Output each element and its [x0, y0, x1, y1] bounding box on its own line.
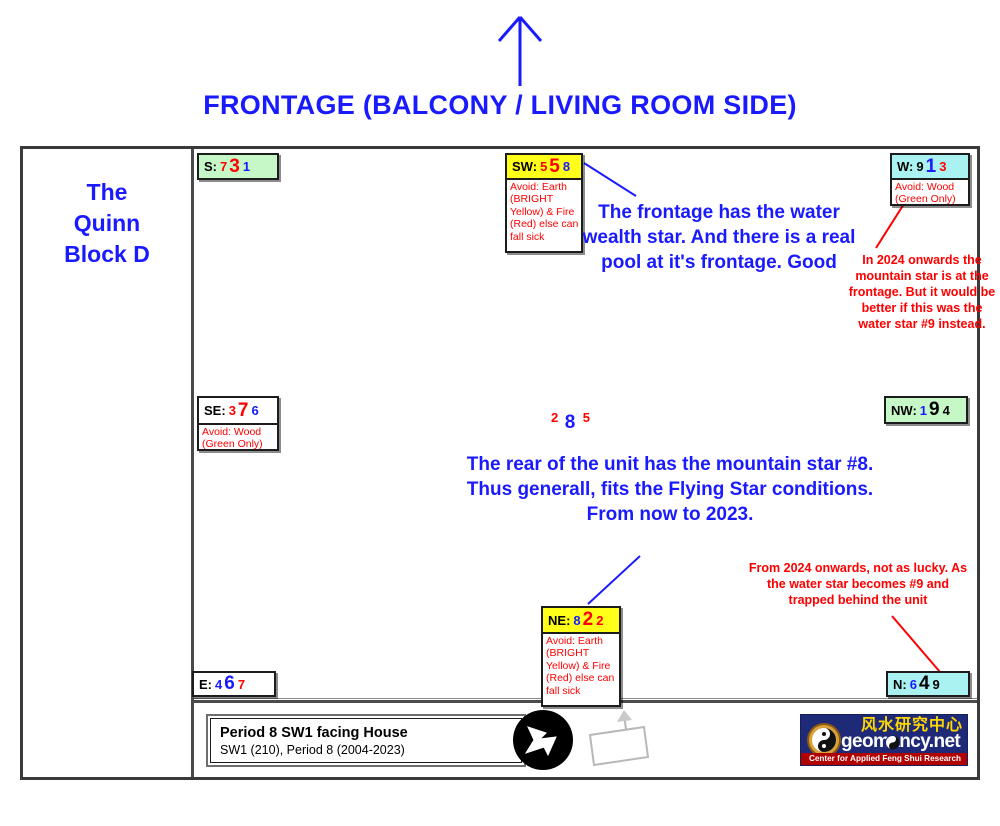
star-box-sw-mountain-star: 5: [549, 156, 560, 178]
star-box-se-period-star: 6: [252, 403, 259, 418]
star-box-w-water-star: 9: [916, 159, 923, 174]
compass-facing-icon: [512, 709, 574, 771]
yin-yang-small-icon: [885, 735, 900, 750]
star-box-ne-advice: Avoid: Earth (BRIGHT Yellow) & Fire (Red…: [541, 634, 621, 707]
star-box-n-mountain-star: 4: [919, 673, 930, 695]
star-box-sw-period-star: 8: [563, 159, 570, 174]
annotation-rear: The rear of the unit has the mountain st…: [450, 452, 890, 527]
star-box-se-mountain-star: 7: [238, 400, 249, 422]
star-box-sw-advice: Avoid: Earth (BRIGHT Yellow) & Fire (Red…: [505, 180, 583, 253]
center-water-star: 2: [551, 410, 558, 425]
yin-yang-icon: [807, 723, 841, 757]
star-box-nw-direction: NW:: [891, 403, 917, 418]
star-box-s-direction: S:: [204, 159, 217, 174]
star-box-n[interactable]: N: 6 4 9: [886, 671, 970, 697]
unit-name-line2: Quinn: [24, 208, 190, 239]
star-box-nw-water-star: 1: [920, 403, 927, 418]
star-box-e[interactable]: E: 4 6 7: [192, 671, 276, 697]
center-stars: 2 8 5: [548, 410, 590, 434]
annotation-frontage: The frontage has the water wealth star. …: [574, 200, 864, 275]
star-box-ne-period-star: 2: [596, 613, 603, 628]
star-box-sw-direction: SW:: [512, 159, 537, 174]
star-box-s-period-star: 1: [243, 159, 250, 174]
star-box-nw-mountain-star: 9: [929, 399, 940, 421]
legend-box: Period 8 SW1 facing House SW1 (210), Per…: [206, 714, 526, 767]
star-box-nw-period-star: 4: [943, 403, 950, 418]
star-box-e-water-star: 4: [215, 677, 222, 692]
star-box-se-advice: Avoid: Wood (Green Only): [197, 425, 279, 451]
star-box-w-period-star: 3: [939, 159, 946, 174]
star-box-e-period-star: 7: [238, 677, 245, 692]
star-box-n-water-star: 6: [910, 677, 917, 692]
star-box-se[interactable]: SE: 3 7 6: [197, 396, 279, 425]
plan-orientation-icon: [586, 707, 656, 769]
star-box-e-direction: E:: [199, 677, 212, 692]
star-box-nw[interactable]: NW: 1 9 4: [884, 396, 968, 424]
star-box-ne-direction: NE:: [548, 613, 570, 628]
legend-subtitle: SW1 (210), Period 8 (2004-2023): [220, 742, 521, 758]
star-box-s[interactable]: S: 7 3 1: [197, 153, 279, 180]
center-period-star: 5: [583, 410, 590, 425]
center-mountain-star: 8: [565, 412, 576, 433]
unit-name-line3: Block D: [24, 239, 190, 270]
star-box-w[interactable]: W: 9 1 3: [890, 153, 970, 180]
star-box-n-direction: N:: [893, 677, 907, 692]
star-box-se-water-star: 3: [229, 403, 236, 418]
star-box-w-direction: W:: [897, 159, 913, 174]
star-box-s-mountain-star: 3: [229, 156, 240, 178]
star-box-sw-water-star: 5: [540, 159, 547, 174]
logo-wordmark: geomancy.net: [841, 732, 960, 752]
star-box-n-period-star: 9: [933, 677, 940, 692]
page-title: FRONTAGE (BALCONY / LIVING ROOM SIDE): [0, 90, 1000, 121]
unit-name-label: The Quinn Block D: [24, 177, 190, 270]
star-box-w-mountain-star: 1: [926, 156, 937, 178]
star-box-w-advice: Avoid: Wood (Green Only): [890, 180, 970, 206]
star-box-e-mountain-star: 6: [224, 673, 235, 695]
star-box-se-direction: SE:: [204, 403, 226, 418]
legend-inner: Period 8 SW1 facing House SW1 (210), Per…: [210, 718, 522, 763]
annotation-ne-2024: From 2024 onwards, not as lucky. As the …: [744, 560, 972, 608]
geomancy-logo[interactable]: 风水研究中心 geomancy.net Center for Applied F…: [800, 714, 968, 766]
star-box-ne-mountain-star: 2: [583, 609, 594, 631]
star-box-ne-water-star: 8: [573, 613, 580, 628]
north-arrow-icon: [480, 8, 560, 88]
unit-name-line1: The: [24, 177, 190, 208]
legend-title: Period 8 SW1 facing House: [220, 724, 521, 742]
star-box-ne[interactable]: NE: 8 2 2: [541, 606, 621, 634]
logo-tagline: Center for Applied Feng Shui Research: [801, 753, 968, 765]
annotation-west-2024: In 2024 onwards the mountain star is at …: [848, 252, 996, 332]
star-box-sw[interactable]: SW: 5 5 8: [505, 153, 583, 180]
star-box-s-water-star: 7: [220, 159, 227, 174]
